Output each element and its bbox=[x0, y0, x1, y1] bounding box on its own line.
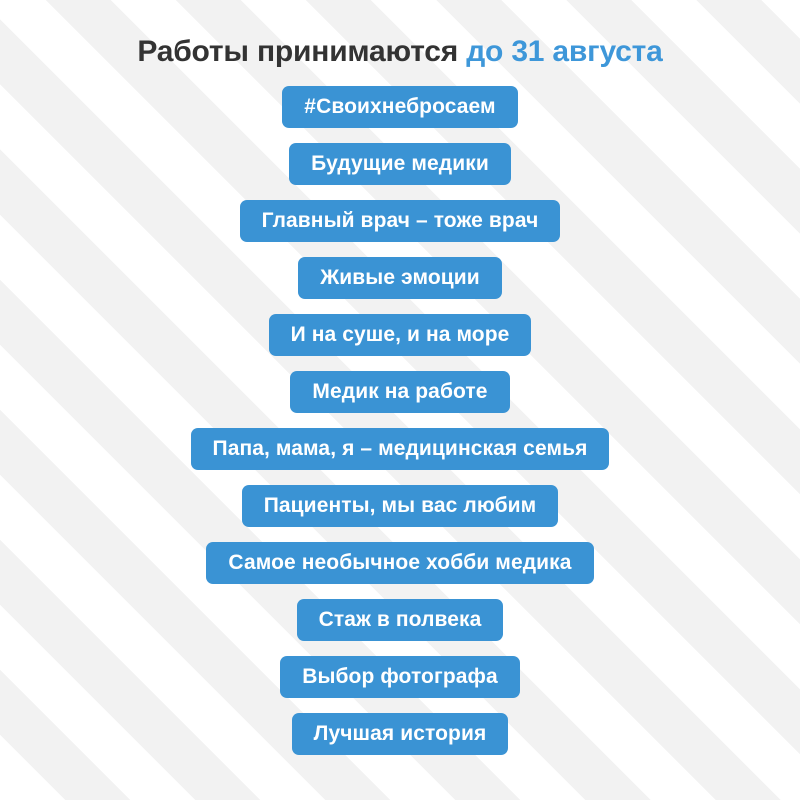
title-main-text: Работы принимаются bbox=[137, 35, 466, 68]
nomination-pill[interactable]: Выбор фотографа bbox=[280, 656, 520, 698]
nomination-pill[interactable]: Лучшая история bbox=[292, 713, 509, 755]
poster-canvas: Работы принимаются до 31 августа #Своихн… bbox=[0, 0, 800, 800]
nomination-pill[interactable]: Главный врач – тоже врач bbox=[240, 200, 561, 242]
nomination-pill[interactable]: Живые эмоции bbox=[298, 257, 502, 299]
page-title: Работы принимаются до 31 августа bbox=[0, 36, 800, 68]
nomination-pill[interactable]: Пациенты, мы вас любим bbox=[242, 485, 559, 527]
nomination-pill[interactable]: Папа, мама, я – медицинская семья bbox=[191, 428, 610, 470]
nomination-pill[interactable]: Стаж в полвека bbox=[297, 599, 504, 641]
nomination-pill[interactable]: И на суше, и на море bbox=[269, 314, 532, 356]
nomination-pill[interactable]: Самое необычное хобби медика bbox=[206, 542, 593, 584]
nominations-list: #СвоихнебросаемБудущие медикиГлавный вра… bbox=[0, 86, 800, 755]
title-accent-deadline: до 31 августа bbox=[466, 35, 662, 68]
nomination-pill[interactable]: Медик на работе bbox=[290, 371, 509, 413]
nomination-pill[interactable]: Будущие медики bbox=[289, 143, 511, 185]
nomination-pill[interactable]: #Своихнебросаем bbox=[282, 86, 517, 128]
